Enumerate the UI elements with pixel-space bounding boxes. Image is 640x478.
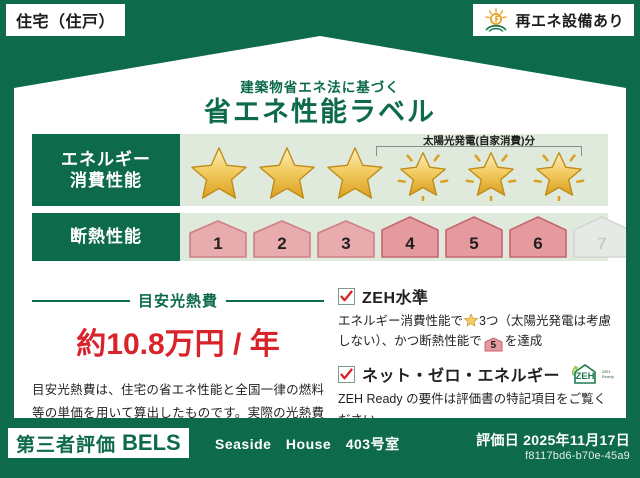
- svg-text:ZEH: ZEH: [576, 371, 595, 382]
- star-1: [186, 143, 252, 203]
- cost-heading-label: 目安光熱費: [138, 290, 218, 311]
- insulation-grade-4: 4: [380, 215, 440, 259]
- insulation-grade-6: 6: [508, 215, 568, 259]
- star-solar-icon: [530, 145, 588, 201]
- insulation-grade-2: 2: [252, 219, 312, 259]
- insulation-grade-1-value: 1: [213, 234, 222, 259]
- insulation-performance-row: 断熱性能 1 2: [32, 213, 608, 261]
- insulation-grade-7-value: 7: [597, 234, 606, 259]
- insulation-performance-value: 1 2 3: [180, 213, 632, 261]
- svg-text:Ready: Ready: [602, 374, 615, 379]
- insulation-grade-2-value: 2: [277, 234, 286, 259]
- star-icon: [464, 313, 478, 327]
- cost-heading: 目安光熱費: [32, 290, 324, 311]
- checkbox-checked-icon: [338, 288, 355, 305]
- category-badge-label: 住宅（住戸）: [16, 8, 115, 32]
- star-4-solar: [390, 143, 456, 203]
- top-bar: 住宅（住戸） 再エネ設備あり: [0, 0, 640, 40]
- star-2: [254, 143, 320, 203]
- zeh-ready-logo: ZEH ZEH Ready: [571, 362, 617, 386]
- inline-grade-badge: 5: [484, 337, 503, 352]
- insulation-grade-scale: 1 2 3: [180, 215, 632, 259]
- claim-zeh-text-part1: エネルギー消費性能で: [338, 314, 463, 328]
- star-rating: [180, 143, 592, 203]
- footer: 第三者評価 BELS Seaside House 403号室 評価日 2025年…: [0, 424, 640, 478]
- title-subtitle: 建築物省エネ法に基づく: [14, 76, 626, 96]
- star-icon: [190, 145, 248, 201]
- claim-zeh-standard-head: ZEH水準: [338, 284, 617, 308]
- star-6-solar: [526, 143, 592, 203]
- energy-key-line2: 消費性能: [70, 170, 142, 191]
- star-3: [322, 143, 388, 203]
- building-name: Seaside House 403号室: [215, 434, 400, 454]
- energy-performance-row: エネルギー 消費性能 太陽光発電(自家消費)分: [32, 134, 608, 206]
- insulation-performance-key: 断熱性能: [32, 213, 180, 261]
- energy-performance-value: 太陽光発電(自家消費)分: [180, 134, 608, 206]
- star-solar-icon: [462, 145, 520, 201]
- claim-net-zero-title: ネット・ゼロ・エネルギー: [362, 362, 560, 386]
- checkmark-icon: [340, 368, 353, 381]
- star-icon: [326, 145, 384, 201]
- claim-zeh-text-part3: を達成: [505, 334, 543, 348]
- card-title: 建築物省エネ法に基づく 省エネ性能ラベル: [14, 76, 626, 128]
- inline-grade-value: 5: [484, 337, 503, 354]
- checkbox-checked-icon: [338, 366, 355, 383]
- energy-key-line1: エネルギー: [61, 149, 151, 170]
- title-main: 省エネ性能ラベル: [14, 98, 626, 128]
- insulation-grade-7: 7: [572, 215, 632, 259]
- star-icon: [258, 145, 316, 201]
- bels-badge-en: BELS: [122, 430, 181, 456]
- star-5-solar: [458, 143, 524, 203]
- evaluation-date: 評価日 2025年11月17日: [476, 430, 630, 450]
- performance-section: エネルギー 消費性能 太陽光発電(自家消費)分: [32, 134, 608, 268]
- insulation-grade-4-value: 4: [405, 234, 414, 259]
- sun-renewable-icon: [483, 8, 509, 32]
- evaluation-id: f8117bd6-b70e-45a9: [525, 450, 630, 462]
- bels-badge: 第三者評価 BELS: [8, 428, 189, 458]
- renewable-badge-label: 再エネ設備あり: [515, 10, 624, 31]
- insulation-grade-5-value: 5: [469, 234, 478, 259]
- checkmark-icon: [340, 290, 353, 303]
- renewable-badge: 再エネ設備あり: [473, 4, 634, 36]
- insulation-grade-3-value: 3: [341, 234, 350, 259]
- cost-value: 約10.8万円 / 年: [32, 319, 324, 363]
- insulation-grade-5: 5: [444, 215, 504, 259]
- energy-label-root: 住宅（住戸） 再エネ設備あり 建築物省エネ法に基づく 省: [0, 0, 640, 478]
- claim-zeh-standard-body: エネルギー消費性能で3つ（太陽光発電は考慮しない）、かつ断熱性能で5を達成: [338, 311, 617, 352]
- label-card: 建築物省エネ法に基づく 省エネ性能ラベル エネルギー 消費性能 太陽光発電(自家…: [14, 36, 626, 418]
- claim-net-zero-energy: ネット・ゼロ・エネルギー ZEH ZEH Ready ZEH Ready の要件…: [338, 362, 617, 430]
- insulation-grade-3: 3: [316, 219, 376, 259]
- claim-zeh-standard-title: ZEH水準: [362, 284, 429, 308]
- claim-zeh-standard: ZEH水準 エネルギー消費性能で3つ（太陽光発電は考慮しない）、かつ断熱性能で5…: [338, 284, 617, 352]
- category-badge: 住宅（住戸）: [6, 4, 125, 36]
- claim-net-zero-head: ネット・ゼロ・エネルギー ZEH ZEH Ready: [338, 362, 617, 386]
- star-solar-icon: [394, 145, 452, 201]
- cost-rule-left: [32, 300, 130, 302]
- bels-badge-jp: 第三者評価: [16, 430, 116, 457]
- insulation-grade-1: 1: [188, 219, 248, 259]
- cost-rule-right: [226, 300, 324, 302]
- insulation-key-label: 断熱性能: [70, 226, 142, 247]
- insulation-grade-6-value: 6: [533, 234, 542, 259]
- energy-performance-key: エネルギー 消費性能: [32, 134, 180, 206]
